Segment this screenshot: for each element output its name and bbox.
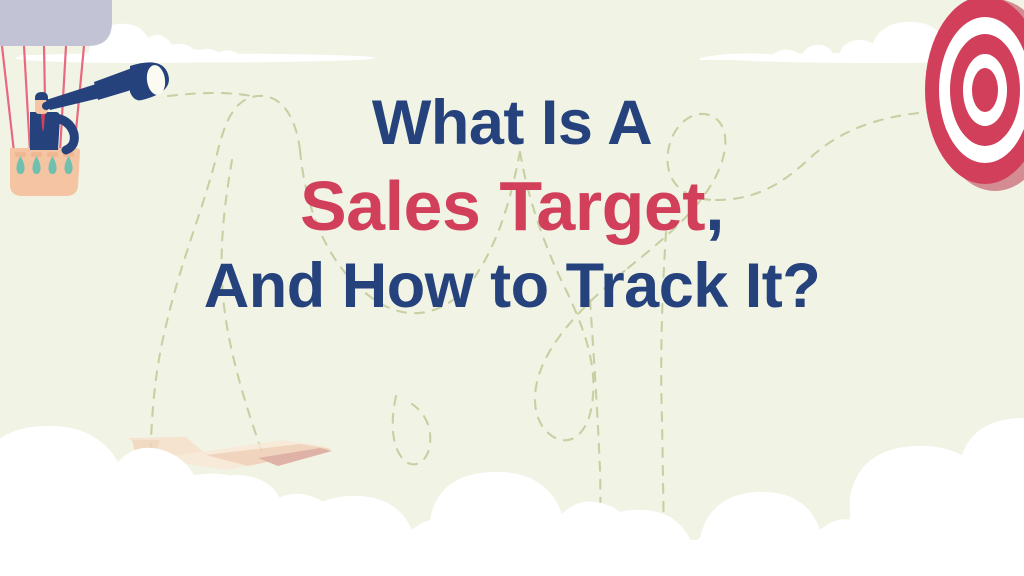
- illustration-layer: [0, 0, 1024, 576]
- banner-canvas: What Is A Sales Target, And How to Track…: [0, 0, 1024, 576]
- balloon-envelope: [0, 0, 112, 46]
